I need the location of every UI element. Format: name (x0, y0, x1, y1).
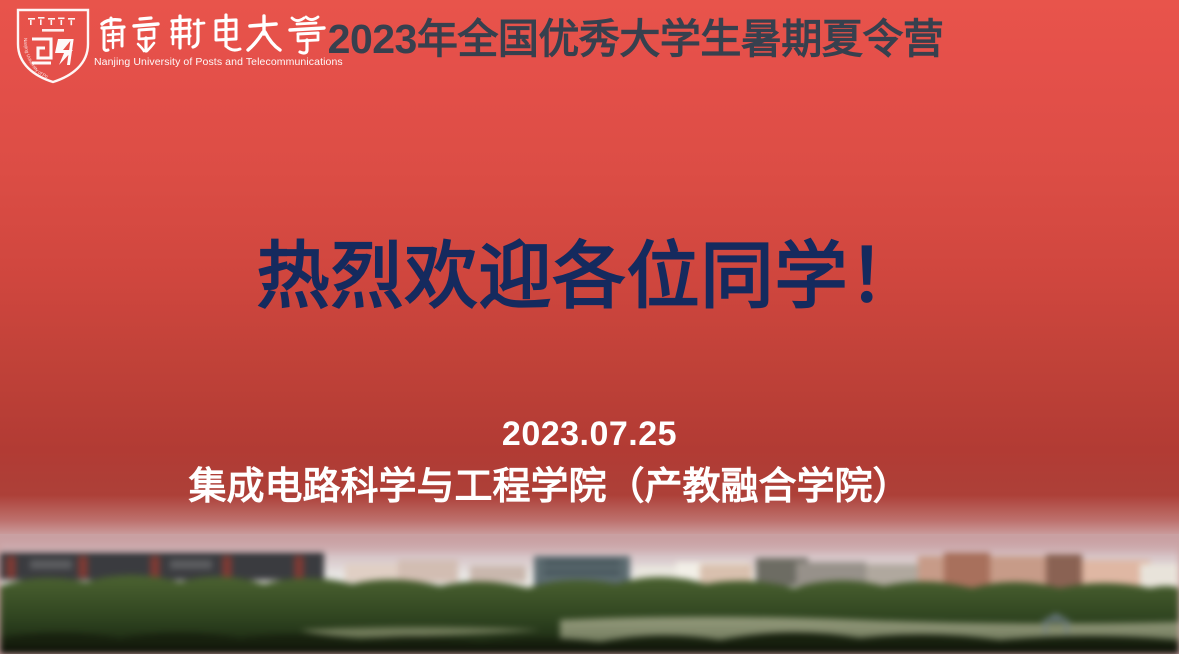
campus-panorama-photo (0, 534, 1179, 654)
department-name: 集成电路科学与工程学院（产教融合学院） (0, 462, 1179, 512)
campus-photo-graphic (0, 534, 1179, 654)
presentation-slide: Nanjing University of Posts and Telecom (0, 0, 1179, 654)
event-date: 2023.07.25 (0, 412, 1179, 456)
slide-header: Nanjing University of Posts and Telecom (0, 0, 1179, 88)
welcome-title: 热烈欢迎各位同学！ (0, 232, 1179, 322)
event-title: 2023年全国优秀大学生暑期夏令营 (0, 14, 1179, 64)
